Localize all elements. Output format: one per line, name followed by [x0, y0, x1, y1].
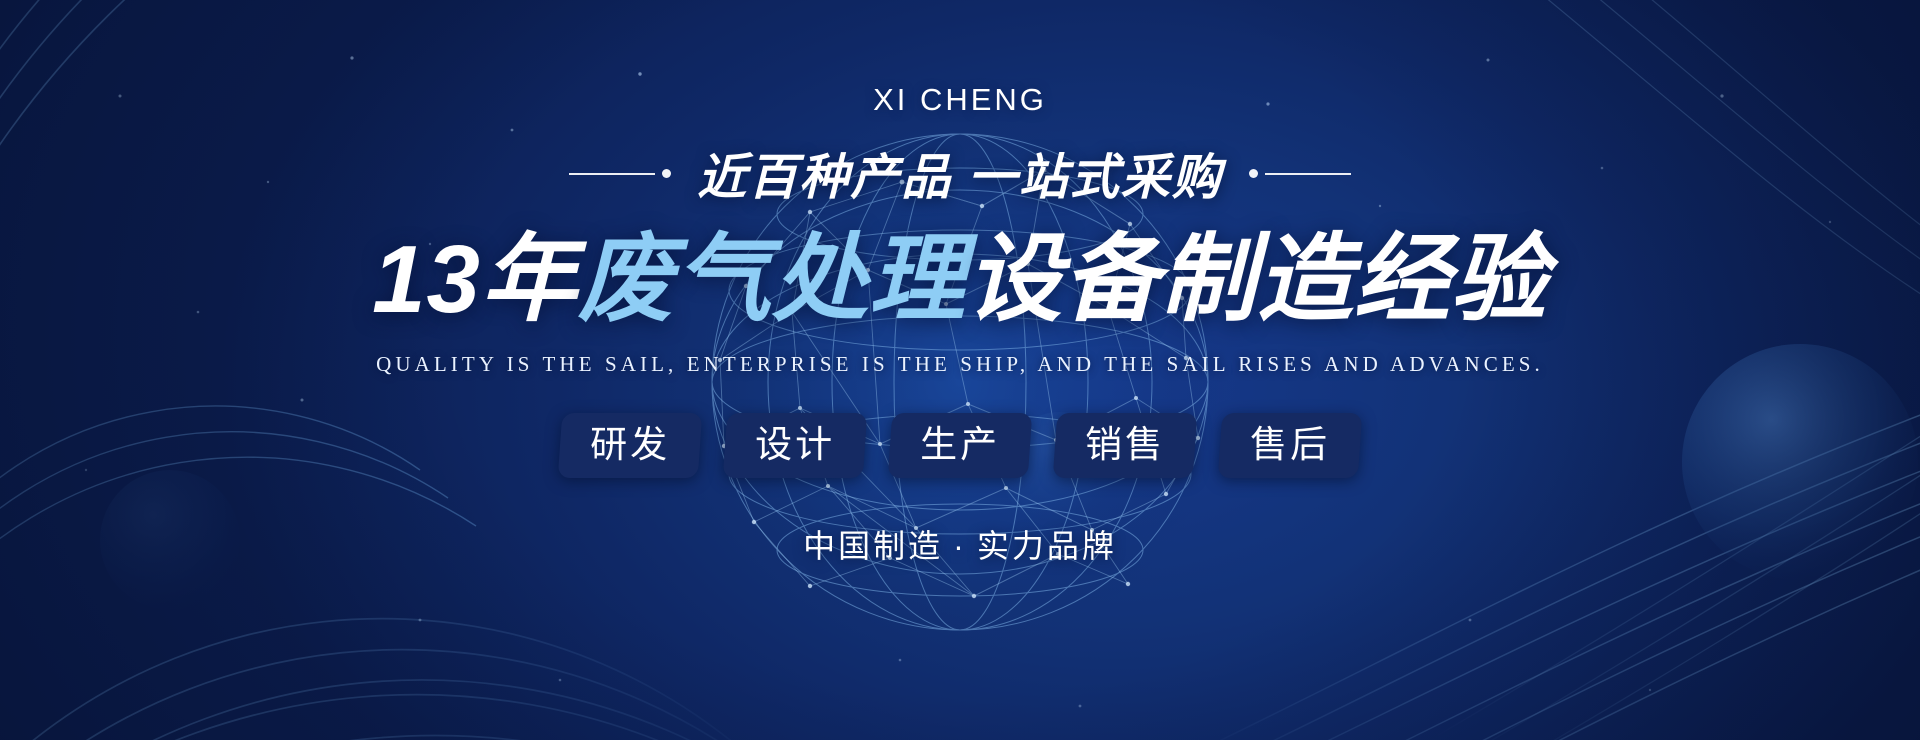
- deco-dot-icon: [662, 169, 671, 178]
- decorative-line-left: [569, 169, 671, 178]
- brand-name-english: XI CHENG: [873, 82, 1047, 118]
- service-pill-production[interactable]: 生产: [888, 413, 1033, 478]
- service-pill-label: 销售: [1085, 424, 1165, 465]
- deco-line-segment: [569, 173, 655, 175]
- deco-dot-icon: [1249, 169, 1258, 178]
- service-pill-rd[interactable]: 研发: [558, 413, 703, 478]
- service-pill-label: 研发: [590, 424, 670, 465]
- footer-slogan-right: 实力品牌: [977, 528, 1117, 564]
- headline-part-two: 设备制造经验: [966, 226, 1548, 333]
- footer-slogan-left: 中国制造: [803, 528, 943, 564]
- service-pill-label: 设计: [755, 424, 835, 465]
- decorative-line-right: [1249, 169, 1351, 178]
- subtitle-row: 近百种产品 一站式采购: [569, 138, 1351, 209]
- service-pill-aftersales[interactable]: 售后: [1218, 413, 1363, 478]
- service-pill-label: 生产: [920, 424, 1000, 465]
- headline-part-one: 13年: [372, 226, 578, 333]
- service-pill-list: 研发 设计 生产 销售 售后: [560, 413, 1360, 478]
- banner-tagline-english: QUALITY IS THE SAIL, ENTERPRISE IS THE S…: [376, 352, 1544, 377]
- hero-banner: XI CHENG 近百种产品 一站式采购 13年废气处理设备制造经验 QUALI…: [0, 0, 1920, 740]
- service-pill-label: 售后: [1250, 424, 1330, 465]
- headline-accent-text: 废气处理: [578, 226, 966, 333]
- banner-headline: 13年废气处理设备制造经验: [372, 221, 1548, 338]
- banner-footer-slogan: 中国制造·实力品牌: [803, 521, 1117, 567]
- deco-line-segment: [1265, 173, 1351, 175]
- footer-separator-dot: ·: [943, 528, 977, 564]
- banner-content: XI CHENG 近百种产品 一站式采购 13年废气处理设备制造经验 QUALI…: [0, 0, 1920, 740]
- service-pill-sales[interactable]: 销售: [1053, 413, 1198, 478]
- service-pill-design[interactable]: 设计: [723, 413, 868, 478]
- banner-subtitle: 近百种产品 一站式采购: [697, 138, 1223, 209]
